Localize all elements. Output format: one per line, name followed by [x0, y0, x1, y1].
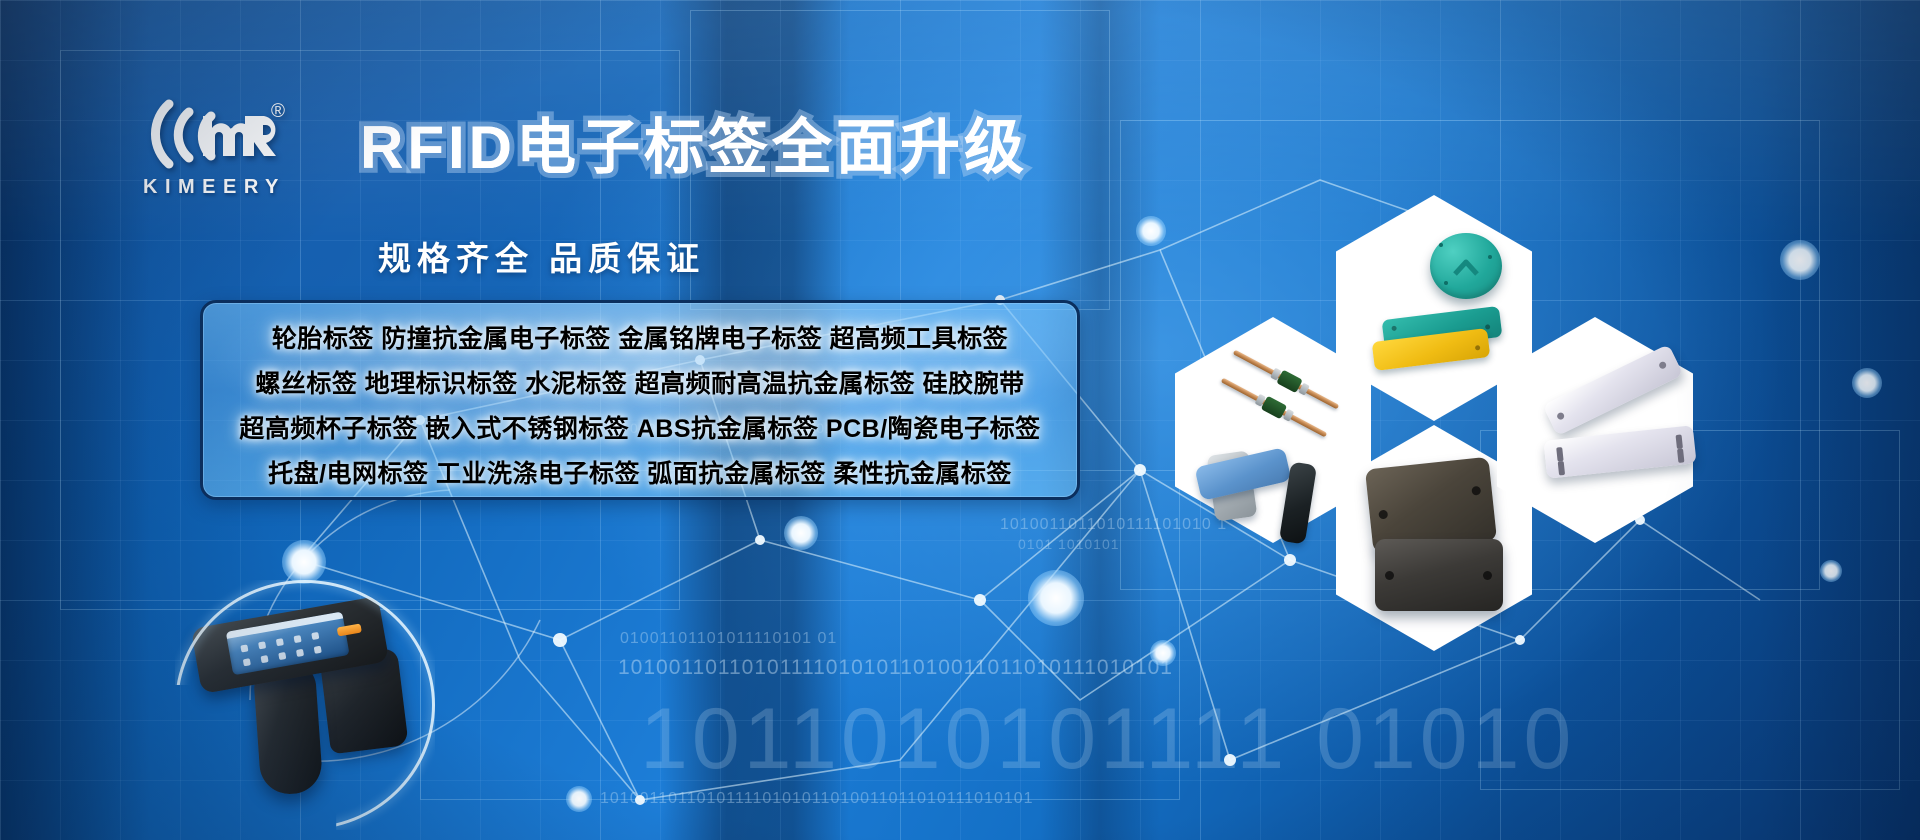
glow-node-7: [1852, 368, 1882, 398]
product-list-row: 超高频杯子标签 嵌入式不锈钢标签 ABS抗金属标签 PCB/陶瓷电子标签: [203, 407, 1077, 452]
product-list-row: 螺丝标签 地理标识标签 水泥标签 超高频耐高温抗金属标签 硅胶腕带: [203, 362, 1077, 407]
brand-logo[interactable]: ® KIMEERY: [143, 98, 323, 208]
glow-node-1: [1028, 570, 1084, 626]
kimeery-signal-logo-icon: ®: [143, 98, 283, 170]
binary-text-mid: 1010011011010111101010110100110110101110…: [618, 656, 1173, 680]
rfid-promo-banner: 1011010101111 01010 10100110110101111010…: [0, 0, 1920, 840]
handheld-rfid-reader: [185, 600, 445, 830]
blueprint-rect-4: [420, 470, 1180, 800]
abs-anti-metal-tag-2: [1375, 539, 1503, 611]
background-shade-left: [0, 0, 150, 840]
teal-disc-tag: [1430, 233, 1502, 299]
glow-node-2: [282, 540, 326, 584]
binary-text-small-3: 0101 1010101: [1018, 536, 1120, 552]
product-list-panel: 轮胎标签 防撞抗金属电子标签 金属铭牌电子标签 超高频工具标签 螺丝标签 地理标…: [200, 300, 1080, 500]
product-list-row: 轮胎标签 防撞抗金属电子标签 金属铭牌电子标签 超高频工具标签: [203, 317, 1077, 362]
glow-node-5: [1150, 640, 1176, 666]
page-title: RFID电子标签全面升级: [360, 118, 1028, 178]
glow-node-9: [566, 786, 592, 812]
binary-text-small-1: 01001101101011110101 01: [620, 630, 837, 648]
glow-node-4: [1136, 216, 1166, 246]
product-list-row: 托盘/电网标签 工业洗涤电子标签 弧面抗金属标签 柔性抗金属标签: [203, 452, 1077, 497]
binary-text-small-4: 1010011011010111101010110100110110101110…: [600, 790, 1034, 808]
glow-node-3: [784, 516, 818, 550]
product-hexagon-cluster: [1175, 195, 1835, 655]
brand-wordmark: KIMEERY: [143, 176, 323, 199]
subtitle: 规格齐全 品质保证: [378, 232, 705, 280]
registered-trademark-icon: ®: [271, 102, 285, 121]
binary-text-large: 1011010101111 01010: [640, 690, 1575, 789]
